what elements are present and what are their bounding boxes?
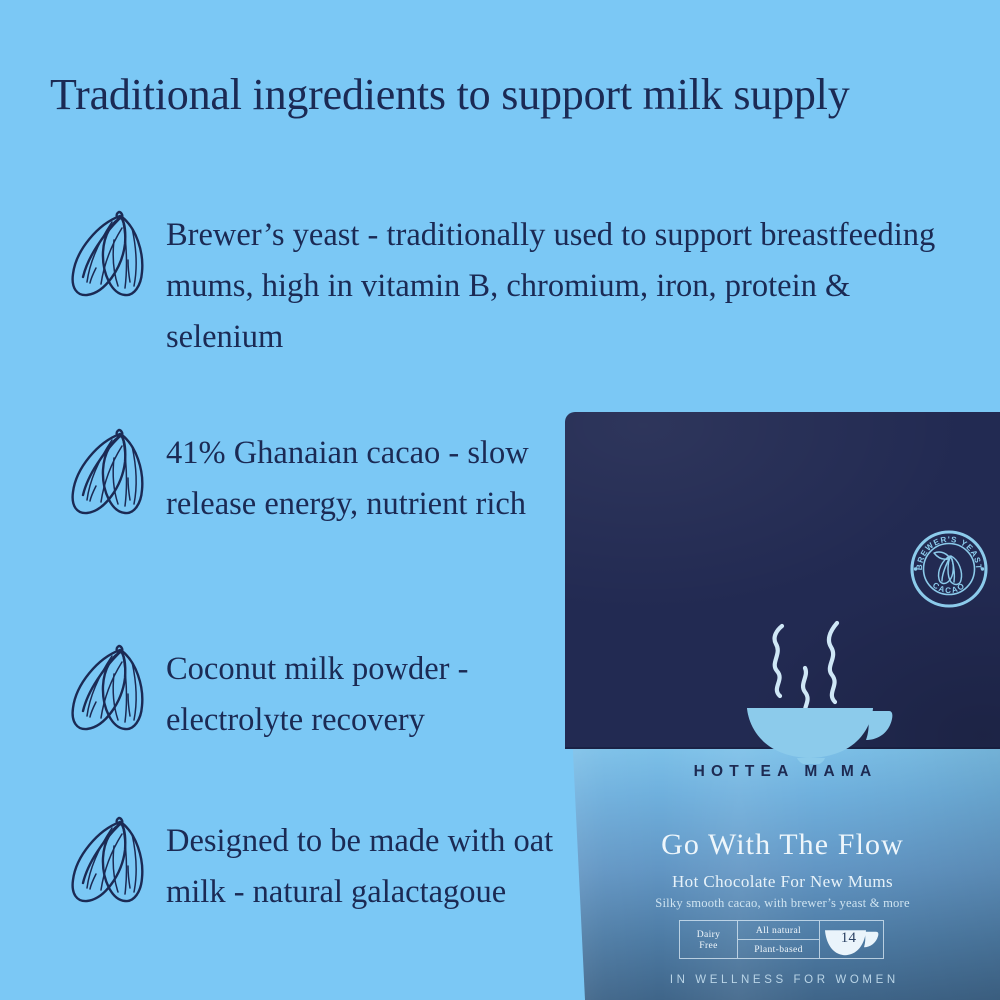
servings-count: 14 bbox=[841, 930, 857, 947]
product-packaging: BREWER'S YEAST CACAO HOTTEA MAMA Go With… bbox=[565, 412, 1000, 1000]
ingredient-item: Brewer’s yeast - traditionally used to s… bbox=[60, 206, 960, 363]
ingredient-text: Designed to be made with oat milk - natu… bbox=[166, 812, 580, 918]
steaming-cup-icon bbox=[735, 592, 900, 764]
page-title: Traditional ingredients to support milk … bbox=[50, 72, 960, 118]
claims-stack: All natural Plant-based bbox=[738, 921, 820, 958]
claim-servings: 14 bbox=[820, 921, 883, 958]
ingredient-text: Brewer’s yeast - traditionally used to s… bbox=[166, 206, 960, 363]
ingredient-item: 41% Ghanaian cacao - slow release energy… bbox=[60, 424, 580, 530]
cacao-pod-icon bbox=[60, 640, 152, 738]
cacao-pod-icon bbox=[60, 206, 152, 304]
cacao-pod-icon bbox=[60, 812, 152, 910]
ingredient-text: 41% Ghanaian cacao - slow release energy… bbox=[166, 424, 580, 530]
ingredient-item: Designed to be made with oat milk - natu… bbox=[60, 812, 580, 918]
claim-dairy-free: Dairy Free bbox=[680, 921, 738, 958]
product-name: Go With The Flow bbox=[565, 828, 1000, 862]
product-subtitle: Hot Chocolate For New Mums bbox=[565, 872, 1000, 892]
claim-dairy-free-line2: Free bbox=[699, 940, 717, 951]
claim-plant-based: Plant-based bbox=[738, 940, 819, 958]
claim-dairy-free-line1: Dairy bbox=[697, 929, 721, 940]
claim-all-natural: All natural bbox=[738, 921, 819, 940]
ingredient-text: Coconut milk powder - electrolyte recove… bbox=[166, 640, 580, 746]
promo-image: Traditional ingredients to support milk … bbox=[0, 0, 1000, 1000]
brewers-yeast-cacao-seal: BREWER'S YEAST CACAO bbox=[909, 529, 989, 609]
claims-strip: Dairy Free All natural Plant-based 14 bbox=[679, 920, 884, 959]
brand-name: HOTTEA MAMA bbox=[565, 763, 1000, 781]
product-description: Silky smooth cacao, with brewer’s yeast … bbox=[565, 896, 1000, 911]
svg-text:CACAO: CACAO bbox=[931, 581, 967, 595]
ingredient-item: Coconut milk powder - electrolyte recove… bbox=[60, 640, 580, 746]
footer-tagline: IN WELLNESS FOR WOMEN bbox=[565, 974, 1000, 986]
cacao-pod-icon bbox=[60, 424, 152, 522]
